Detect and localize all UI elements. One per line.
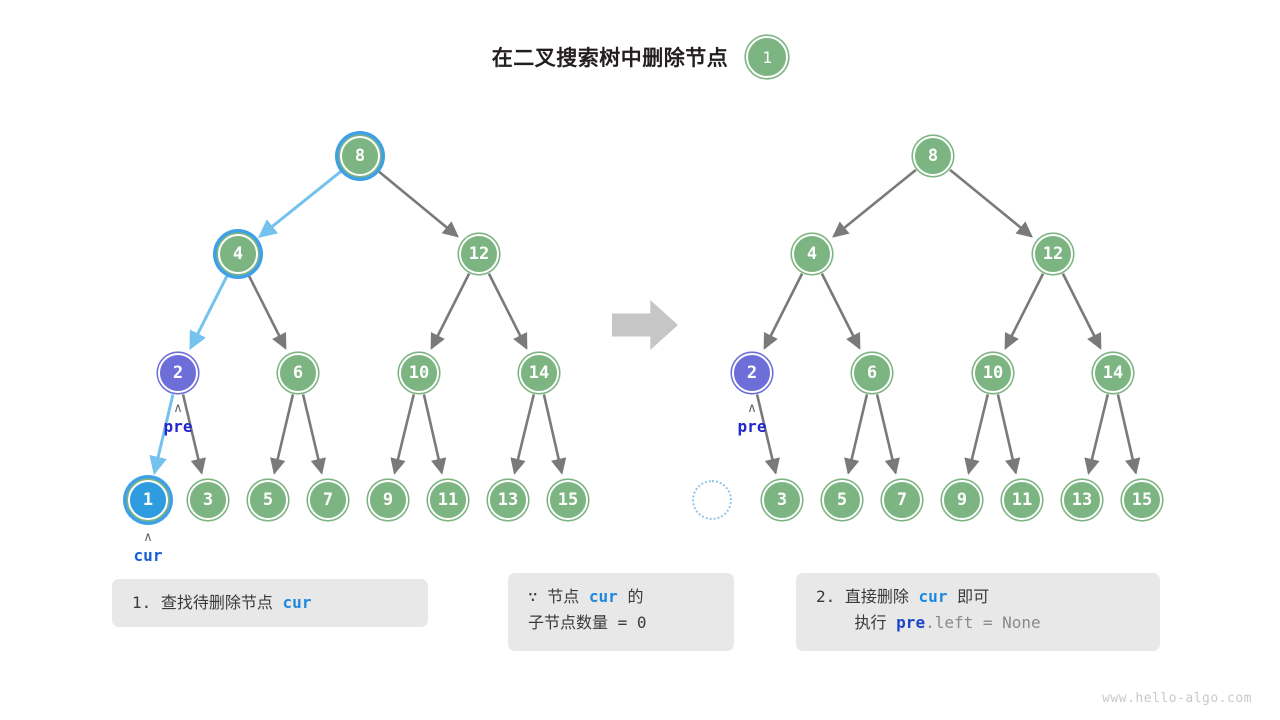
caption-reason-line2: 子节点数量 = 0 — [528, 610, 714, 636]
tree-node-3[interactable]: 3 — [188, 480, 228, 520]
pointer-label-pre-left: ∧pre — [164, 404, 193, 436]
caption-reason-line1-pre: ∵ 节点 — [528, 587, 589, 606]
tree-node-7[interactable]: 7 — [882, 480, 922, 520]
pointer-name: pre — [164, 417, 193, 436]
caption-step-2-line1-pre: 2. 直接删除 — [816, 587, 919, 606]
caret-icon: ∧ — [738, 404, 767, 414]
title-step-badge: 1 — [746, 36, 788, 78]
tree-node-8[interactable]: 8 — [913, 136, 953, 176]
tree-node-12[interactable]: 12 — [1033, 234, 1073, 274]
deleted-node-placeholder[interactable] — [692, 480, 732, 520]
tree-node-15[interactable]: 15 — [1122, 480, 1162, 520]
caret-icon: ∧ — [134, 533, 163, 543]
tree-edge — [1118, 394, 1136, 472]
tree-edge — [191, 274, 228, 348]
tree-edge — [877, 394, 896, 472]
tree-edge — [515, 394, 534, 472]
tree-edge — [1089, 394, 1108, 472]
tree-node-2[interactable]: 2 — [158, 353, 198, 393]
tree-node-11[interactable]: 11 — [428, 480, 468, 520]
caption-step-2-code-cur: cur — [919, 587, 948, 606]
tree-edge — [395, 394, 414, 472]
caption-step-2-code-pre: pre — [896, 613, 925, 632]
caption-step-2-line1-post: 即可 — [947, 587, 989, 606]
tree-node-4[interactable]: 4 — [792, 234, 832, 274]
page-title: 在二叉搜索树中删除节点 — [492, 42, 729, 72]
caption-step-2-line2-pre: 执行 — [816, 613, 896, 632]
right-arrow-icon — [612, 300, 678, 350]
pointer-label-pre-right: ∧pre — [738, 404, 767, 436]
tree-node-5[interactable]: 5 — [248, 480, 288, 520]
page-title-row: 在二叉搜索树中删除节点 1 — [0, 36, 1280, 78]
tree-node-6[interactable]: 6 — [278, 353, 318, 393]
tree-edge — [822, 274, 859, 348]
caption-reason: ∵ 节点 cur 的子节点数量 = 0 — [508, 573, 734, 651]
tree-edge — [848, 394, 867, 472]
tree-node-13[interactable]: 13 — [488, 480, 528, 520]
tree-edge — [260, 170, 343, 237]
tree-edge — [274, 394, 293, 472]
tree-node-2[interactable]: 2 — [732, 353, 772, 393]
tree-edge — [303, 394, 322, 472]
watermark: www.hello-algo.com — [1102, 691, 1252, 706]
caption-step-1: 1. 查找待删除节点 cur — [112, 579, 428, 627]
tree-edge — [834, 170, 916, 237]
tree-node-9[interactable]: 9 — [368, 480, 408, 520]
tree-node-12[interactable]: 12 — [459, 234, 499, 274]
tree-edge — [1063, 274, 1100, 348]
caption-step-1-code: cur — [283, 593, 312, 612]
tree-node-3[interactable]: 3 — [762, 480, 802, 520]
pointer-label-cur-left: ∧cur — [134, 533, 163, 565]
tree-node-10[interactable]: 10 — [399, 353, 439, 393]
tree-edge — [424, 394, 442, 472]
tree-node-13[interactable]: 13 — [1062, 480, 1102, 520]
caption-reason-code: cur — [589, 587, 618, 606]
caption-step-2-line2-post: .left = None — [925, 613, 1041, 632]
tree-edge — [489, 274, 526, 348]
tree-node-7[interactable]: 7 — [308, 480, 348, 520]
tree-edge — [377, 170, 457, 236]
tree-node-11[interactable]: 11 — [1002, 480, 1042, 520]
tree-edge — [950, 170, 1031, 236]
caption-step-1-text: 1. 查找待删除节点 — [132, 593, 283, 612]
tree-edge — [998, 394, 1016, 472]
transition-arrow-group — [612, 300, 678, 350]
tree-node-4[interactable]: 4 — [218, 234, 258, 274]
caption-step-2: 2. 直接删除 cur 即可 执行 pre.left = None — [796, 573, 1160, 651]
diagram-canvas: 在二叉搜索树中删除节点 1 841226101413579111315∧pre∧… — [0, 0, 1280, 720]
pointer-name: pre — [738, 417, 767, 436]
tree-node-6[interactable]: 6 — [852, 353, 892, 393]
tree-node-14[interactable]: 14 — [519, 353, 559, 393]
caret-icon: ∧ — [164, 404, 193, 414]
tree-edge — [248, 274, 285, 348]
caption-reason-line1-post: 的 — [618, 587, 644, 606]
tree-node-15[interactable]: 15 — [548, 480, 588, 520]
pointer-name: cur — [134, 546, 163, 565]
tree-node-10[interactable]: 10 — [973, 353, 1013, 393]
tree-edge — [544, 394, 562, 472]
tree-edge — [969, 394, 988, 472]
tree-node-1[interactable]: 1 — [128, 480, 168, 520]
tree-node-8[interactable]: 8 — [340, 136, 380, 176]
tree-edge — [1006, 274, 1043, 348]
tree-node-9[interactable]: 9 — [942, 480, 982, 520]
tree-edge — [432, 274, 469, 348]
tree-edge — [765, 274, 802, 348]
tree-node-14[interactable]: 14 — [1093, 353, 1133, 393]
tree-node-5[interactable]: 5 — [822, 480, 862, 520]
